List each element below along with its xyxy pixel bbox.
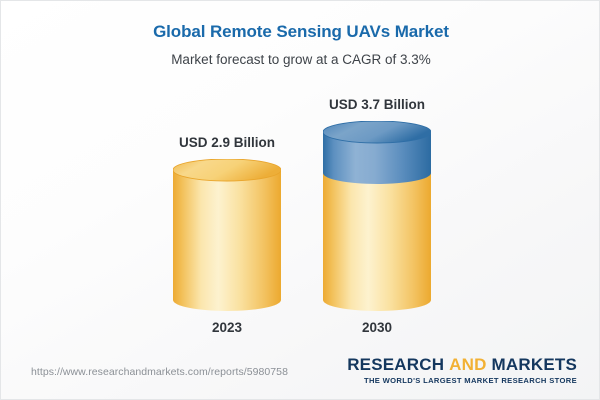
footer: https://www.researchandmarkets.com/repor… [1, 347, 599, 399]
logo-word-and: AND [449, 355, 486, 374]
bar-value-label-2030: USD 3.7 Billion [297, 96, 457, 114]
logo-word-markets: MARKETS [492, 355, 577, 374]
bar-value-label-2023: USD 2.9 Billion [147, 134, 307, 152]
logo-wordmark: RESEARCH AND MARKETS [347, 355, 577, 375]
cylinder-shape-2023 [173, 159, 281, 311]
infographic-canvas: Global Remote Sensing UAVs Market Market… [0, 0, 600, 400]
bar-cylinder-2030[interactable] [323, 121, 431, 311]
report-url[interactable]: https://www.researchandmarkets.com/repor… [31, 365, 288, 379]
bar-cylinder-2023[interactable] [173, 159, 281, 311]
bar-chart: USD 2.9 Billion [1, 1, 600, 346]
cylinder-shape-2030 [323, 121, 431, 311]
logo-tagline: THE WORLD'S LARGEST MARKET RESEARCH STOR… [347, 376, 577, 386]
brand-logo[interactable]: RESEARCH AND MARKETS THE WORLD'S LARGEST… [347, 355, 577, 386]
bar-category-label-2030: 2030 [297, 319, 457, 337]
logo-word-research: RESEARCH [347, 355, 444, 374]
bar-category-label-2023: 2023 [147, 319, 307, 337]
